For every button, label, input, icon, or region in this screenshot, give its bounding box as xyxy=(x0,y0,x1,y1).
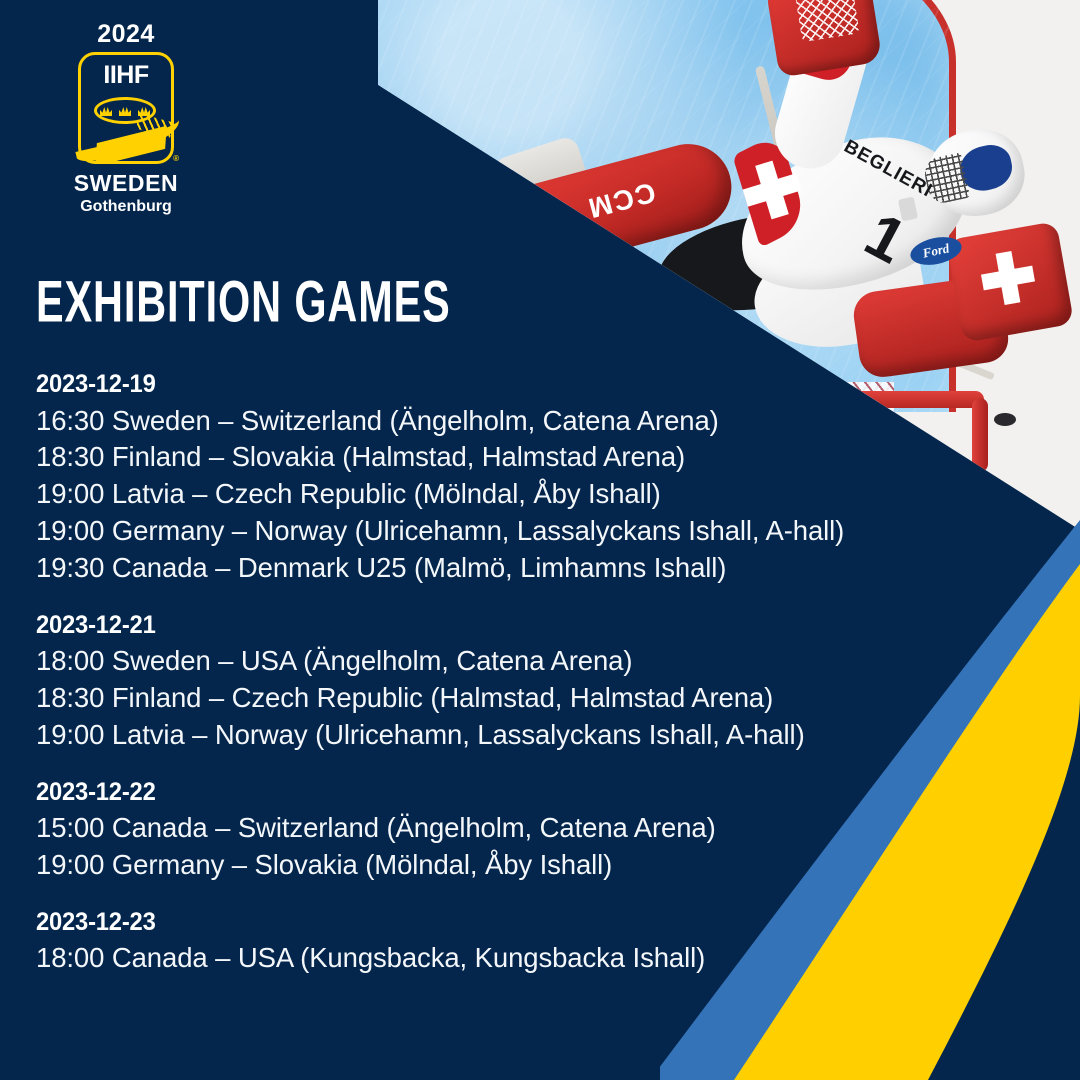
schedule-date: 2023-12-21 xyxy=(36,609,986,642)
schedule-game-row: 18:00 Sweden – USA (Ängelholm, Catena Ar… xyxy=(36,643,1036,680)
schedule-date: 2023-12-22 xyxy=(36,776,986,809)
schedule-game-row: 18:00 Canada – USA (Kungsbacka, Kungsbac… xyxy=(36,940,1036,977)
schedule-game-row: 19:00 Germany – Slovakia (Mölndal, Åby I… xyxy=(36,847,1036,884)
schedule-day-group: 2023-12-1916:30 Sweden – Switzerland (Än… xyxy=(36,368,1036,587)
pad-strap xyxy=(528,217,561,255)
schedule-game-row: 16:30 Sweden – Switzerland (Ängelholm, C… xyxy=(36,403,1036,440)
schedule-game-row: 18:30 Finland – Slovakia (Halmstad, Halm… xyxy=(36,439,1036,476)
schedule-panel: EXHIBITION GAMES 2023-12-1916:30 Sweden … xyxy=(36,278,1036,999)
logo-city-label: Gothenburg xyxy=(62,199,190,215)
schedule-list: 2023-12-1916:30 Sweden – Switzerland (Än… xyxy=(36,368,1036,977)
schedule-game-row: 19:30 Canada – Denmark U25 (Malmö, Limha… xyxy=(36,550,1036,587)
logo-year: 2024 xyxy=(62,22,190,47)
schedule-day-group: 2023-12-2118:00 Sweden – USA (Ängelholm,… xyxy=(36,609,1036,754)
logo-country-label: SWEDEN xyxy=(62,172,190,195)
logo-yellow-ribbon xyxy=(69,109,187,161)
schedule-game-row: 15:00 Canada – Switzerland (Ängelholm, C… xyxy=(36,810,1036,847)
schedule-game-row: 19:00 Latvia – Czech Republic (Mölndal, … xyxy=(36,476,1036,513)
logo-federation-label: IIHF xyxy=(81,63,171,88)
registered-trademark-icon: ® xyxy=(173,155,179,163)
schedule-date: 2023-12-23 xyxy=(36,906,986,939)
schedule-game-row: 19:00 Latvia – Norway (Ulricehamn, Lassa… xyxy=(36,717,1036,754)
schedule-game-row: 19:00 Germany – Norway (Ulricehamn, Lass… xyxy=(36,513,1036,550)
schedule-game-row: 18:30 Finland – Czech Republic (Halmstad… xyxy=(36,680,1036,717)
iihf-tournament-logo: 2024 IIHF ® SWEDEN Gothenburg xyxy=(62,22,190,215)
logo-shield: IIHF ® xyxy=(78,52,174,164)
page-title: EXHIBITION GAMES xyxy=(36,272,936,331)
schedule-day-group: 2023-12-2318:00 Canada – USA (Kungsbacka… xyxy=(36,906,1036,977)
schedule-day-group: 2023-12-2215:00 Canada – Switzerland (Än… xyxy=(36,776,1036,884)
schedule-date: 2023-12-19 xyxy=(36,368,986,401)
pad-strap xyxy=(577,225,608,260)
